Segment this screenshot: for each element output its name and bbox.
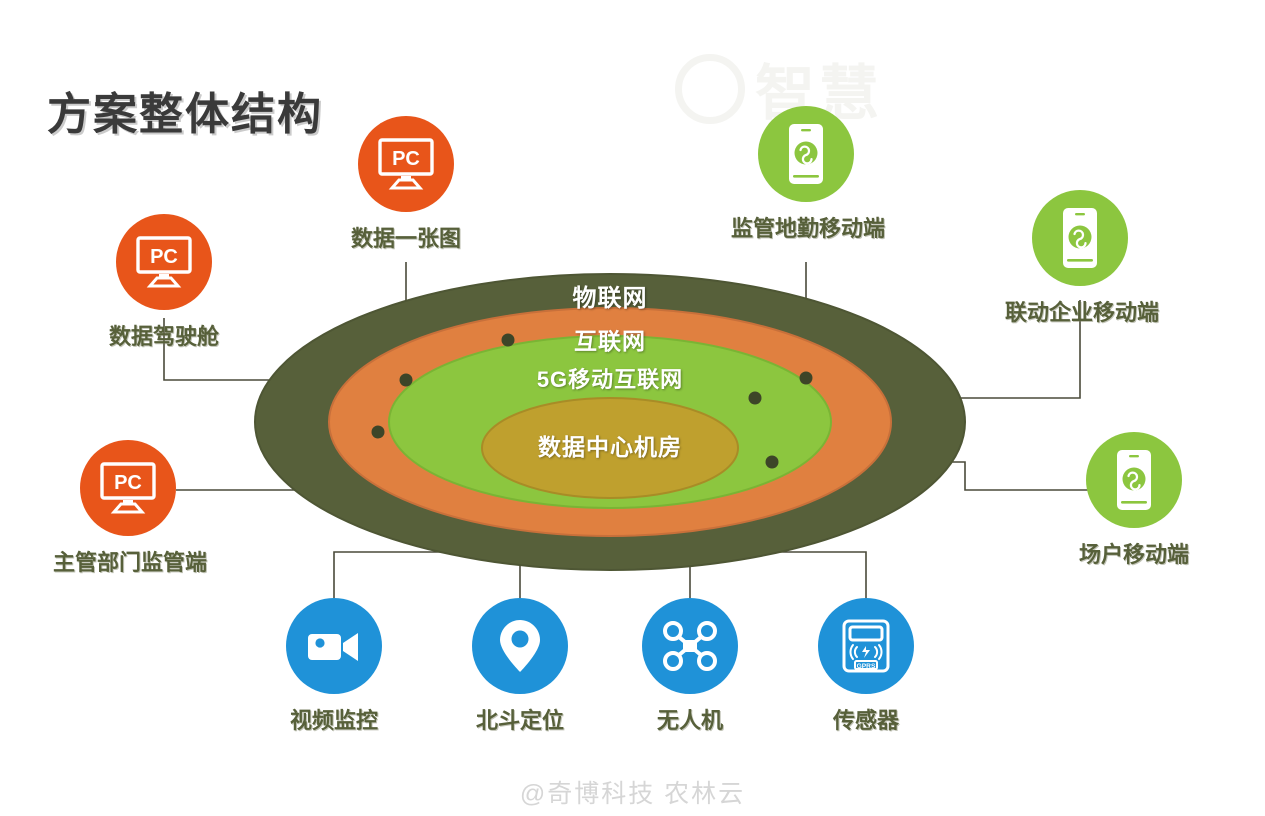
node-drone-circle[interactable] xyxy=(642,598,738,694)
node-one-map-label: 数据一张图 xyxy=(331,221,481,253)
location-pin-icon xyxy=(497,617,543,675)
node-one-map-circle[interactable]: PC xyxy=(358,116,454,212)
node-enterprise-mobile-label: 联动企业移动端 xyxy=(1005,295,1155,327)
node-authority-admin[interactable]: PC 主管部门监管端 xyxy=(53,440,203,577)
node-data-cockpit[interactable]: PC 数据驾驶舱 xyxy=(89,214,239,351)
node-beidou-locate-label: 北斗定位 xyxy=(445,703,595,735)
video-camera-icon xyxy=(306,626,362,666)
node-data-cockpit-label: 数据驾驶舱 xyxy=(89,319,239,351)
node-authority-admin-circle[interactable]: PC xyxy=(80,440,176,536)
diagram-canvas: 智慧 方案整体结构 xyxy=(0,0,1265,816)
ring-label-mobile5g: 5G移动互联网 xyxy=(537,362,683,394)
miniprogram-phone-icon xyxy=(1058,206,1102,270)
node-farm-mobile-circle[interactable] xyxy=(1086,432,1182,528)
svg-text:PC: PC xyxy=(114,472,142,494)
drone-icon xyxy=(661,620,719,672)
miniprogram-phone-icon xyxy=(1112,448,1156,512)
svg-text:PC: PC xyxy=(150,246,178,268)
node-enterprise-mobile-circle[interactable] xyxy=(1032,190,1128,286)
node-authority-admin-label: 主管部门监管端 xyxy=(53,545,203,577)
pc-monitor-icon: PC xyxy=(377,138,435,190)
ring-label-iot: 物联网 xyxy=(573,278,648,313)
miniprogram-phone-icon xyxy=(784,122,828,186)
node-data-cockpit-circle[interactable]: PC xyxy=(116,214,212,310)
svg-text:GPRS: GPRS xyxy=(857,663,876,670)
svg-text:PC: PC xyxy=(392,148,420,170)
node-video-monitor-circle[interactable] xyxy=(286,598,382,694)
brand-watermark-bottom: @奇博科技 农林云 xyxy=(520,774,745,810)
node-farm-mobile[interactable]: 场户移动端 xyxy=(1059,432,1209,569)
pc-monitor-icon: PC xyxy=(99,462,157,514)
node-sensor-circle[interactable]: GPRS xyxy=(818,598,914,694)
node-enterprise-mobile[interactable]: 联动企业移动端 xyxy=(1005,190,1155,327)
node-drone[interactable]: 无人机 xyxy=(615,598,765,735)
node-supervisor-mobile[interactable]: 监管地勤移动端 xyxy=(731,106,881,243)
node-drone-label: 无人机 xyxy=(615,703,765,735)
node-supervisor-mobile-circle[interactable] xyxy=(758,106,854,202)
node-beidou-locate[interactable]: 北斗定位 xyxy=(445,598,595,735)
node-sensor[interactable]: GPRS 传感器 xyxy=(791,598,941,735)
node-video-monitor[interactable]: 视频监控 xyxy=(259,598,409,735)
node-farm-mobile-label: 场户移动端 xyxy=(1059,537,1209,569)
gprs-sensor-icon: GPRS xyxy=(841,618,891,674)
node-video-monitor-label: 视频监控 xyxy=(259,703,409,735)
pc-monitor-icon: PC xyxy=(135,236,193,288)
ring-label-datacenter: 数据中心机房 xyxy=(538,428,682,462)
node-one-map[interactable]: PC 数据一张图 xyxy=(331,116,481,253)
node-sensor-label: 传感器 xyxy=(791,703,941,735)
node-supervisor-mobile-label: 监管地勤移动端 xyxy=(731,211,881,243)
ring-label-internet: 互联网 xyxy=(574,322,646,356)
node-beidou-locate-circle[interactable] xyxy=(472,598,568,694)
